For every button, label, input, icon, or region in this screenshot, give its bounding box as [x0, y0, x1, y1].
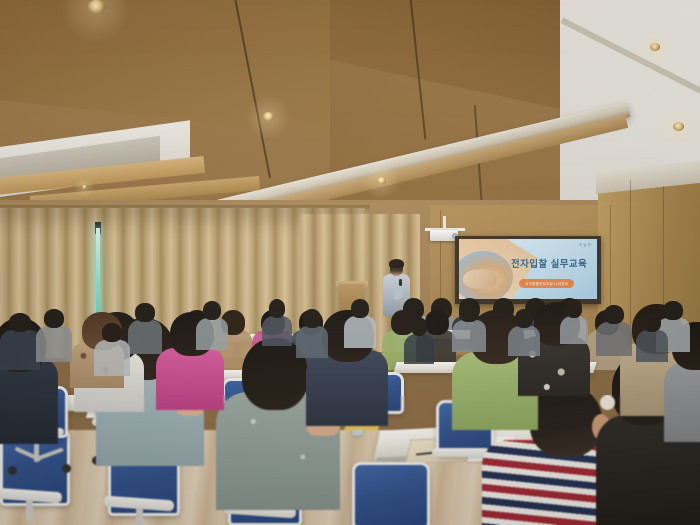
slide-photo-inset: [463, 269, 497, 289]
presenter-hair: [389, 259, 404, 268]
head: [351, 299, 369, 318]
head: [663, 301, 682, 320]
attendee-silhouette: [0, 330, 40, 370]
head: [44, 309, 64, 328]
head: [135, 303, 154, 322]
head: [643, 313, 661, 332]
attendee-silhouette: [262, 316, 292, 346]
seminar-room-photo: 조달청 전자입찰 실무교육 국가종합전자조달 나라장터: [0, 0, 700, 525]
recessed-downlight: [88, 0, 105, 13]
attendee-silhouette: [94, 340, 130, 376]
recessed-downlight: [673, 122, 684, 131]
attendee-silhouette: [128, 320, 162, 354]
wall-seam: [440, 210, 441, 310]
head: [425, 310, 449, 335]
head: [604, 305, 624, 324]
microphone-icon: [399, 279, 402, 286]
attendee-silhouette: [36, 326, 72, 362]
head: [459, 303, 478, 322]
head: [515, 309, 533, 328]
recessed-downlight: [263, 112, 274, 121]
head: [566, 299, 582, 318]
head: [102, 323, 122, 342]
head: [9, 313, 31, 332]
attendee-silhouette: [596, 322, 632, 356]
head: [203, 301, 221, 320]
attendee-silhouette: [636, 330, 668, 362]
recessed-downlight: [377, 177, 386, 184]
projection-screen: 조달청 전자입찰 실무교육 국가종합전자조달 나라장터: [459, 239, 597, 299]
head: [269, 299, 286, 318]
attendee-silhouette: [404, 334, 434, 364]
head: [411, 317, 428, 336]
slide-title: 전자입찰 실무교육: [511, 259, 597, 270]
recessed-downlight: [650, 43, 660, 51]
head: [303, 309, 321, 328]
attendee-silhouette: [344, 316, 376, 348]
attendee-silhouette: [452, 320, 486, 352]
attendee-silhouette: [508, 326, 540, 356]
hair-tie: [600, 395, 615, 410]
attendee-silhouette: [296, 326, 328, 358]
slide-logo: 조달청: [579, 242, 592, 247]
attendee-silhouette: [560, 316, 588, 344]
attendee-silhouette: [196, 318, 228, 350]
recessed-downlight: [82, 185, 87, 189]
slide-subtitle: 국가종합전자조달 나라장터: [519, 279, 574, 288]
